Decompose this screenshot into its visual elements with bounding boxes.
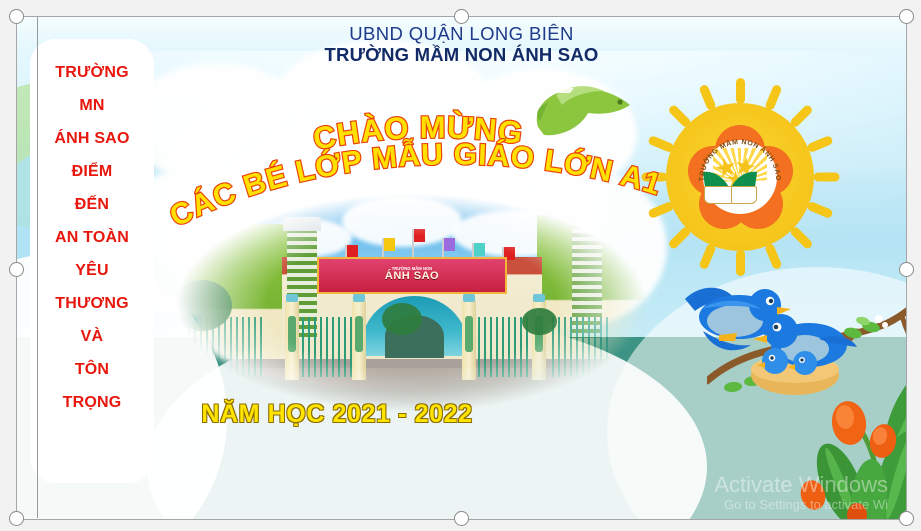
photo-sign-large-text: ÁNH SAO — [385, 271, 439, 283]
svg-text:TRƯỜNG MẦM NON ÁNH SAO: TRƯỜNG MẦM NON ÁNH SAO — [699, 137, 781, 181]
watermark-title: Activate Windows — [714, 472, 888, 497]
resize-handle-bottom-right[interactable] — [899, 511, 914, 526]
logo-arc-text: TRƯỜNG MẦM NON ÁNH SAO — [687, 124, 793, 230]
resize-handle-top-right[interactable] — [899, 9, 914, 24]
sun-icon: TRƯỜNG MẦM NON ÁNH SAO — [640, 77, 840, 277]
slogan-line: VÀ — [81, 329, 104, 345]
slogan-line: ĐẾN — [75, 197, 109, 213]
slogan-line: AN TOÀN — [55, 230, 129, 246]
slide-surface[interactable]: TRƯỜNG MẦM NON ÁNH SAO — [16, 16, 907, 520]
resize-handle-middle-right[interactable] — [899, 262, 914, 277]
resize-handle-top-center[interactable] — [454, 9, 469, 24]
photo-school-sign: TRƯỜNG MẦM NON ÁNH SAO — [317, 257, 507, 294]
powerpoint-slide-canvas: TRƯỜNG MẦM NON ÁNH SAO — [0, 0, 921, 531]
green-dove-icon — [530, 69, 638, 143]
logo-arc-label: TRƯỜNG MẦM NON ÁNH SAO — [699, 137, 781, 181]
photo-gate-left — [302, 317, 357, 377]
slogan-line: YÊU — [75, 263, 109, 279]
slogan-line: MN — [79, 98, 104, 114]
school-logo[interactable]: TRƯỜNG MẦM NON ÁNH SAO — [687, 124, 793, 230]
photo-tree — [172, 280, 232, 331]
slogan-line: TÔN — [75, 362, 109, 378]
school-photo[interactable]: TRƯỜNG MẦM NON ÁNH SAO — [162, 187, 662, 419]
resize-handle-middle-left[interactable] — [9, 262, 24, 277]
windows-activation-watermark: Activate Windows Go to Settings to activ… — [714, 472, 888, 513]
resize-handle-top-left[interactable] — [9, 9, 24, 24]
guide-line-vertical — [37, 16, 38, 518]
slogan-line: ÁNH SAO — [54, 131, 129, 147]
slogan-line: TRƯỜNG — [55, 65, 128, 81]
watermark-subtitle: Go to Settings to activate Wi — [714, 497, 888, 513]
resize-handle-bottom-left[interactable] — [9, 511, 24, 526]
photo-gate-far-right — [552, 317, 612, 377]
slogan-line: ĐIỂM — [72, 164, 113, 180]
school-year-label: NĂM HỌC 2021 - 2022 — [17, 400, 657, 429]
resize-handle-bottom-center[interactable] — [454, 511, 469, 526]
slogan-line: THƯƠNG — [55, 296, 128, 312]
